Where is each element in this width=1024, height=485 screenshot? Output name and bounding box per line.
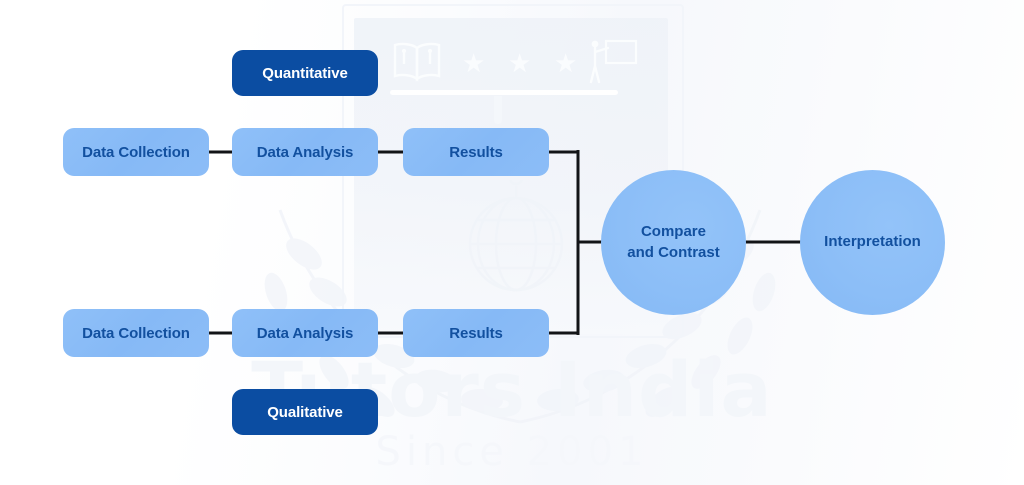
watermark-icon-strip: ★ ★ ★	[390, 36, 640, 90]
node-results-qualitative[interactable]: Results	[403, 309, 549, 357]
node-label: Compare and Contrast	[615, 222, 732, 263]
node-data-collection-qualitative[interactable]: Data Collection	[63, 309, 209, 357]
watermark-divider	[390, 90, 618, 95]
node-compare-and-contrast[interactable]: Compare and Contrast	[601, 170, 746, 315]
open-book-icon	[390, 40, 444, 82]
flowchart-canvas: ★ ★ ★	[0, 0, 1024, 485]
node-label-line-1: Compare	[641, 223, 706, 240]
badge-quantitative-label: Quantitative	[262, 65, 347, 82]
node-label: Data Collection	[82, 144, 190, 161]
node-data-collection-quantitative[interactable]: Data Collection	[63, 128, 209, 176]
node-label: Interpretation	[824, 232, 921, 252]
watermark-ribbon	[494, 96, 502, 124]
brand-tagline-watermark: Since 2001	[0, 432, 1024, 472]
node-results-quantitative[interactable]: Results	[403, 128, 549, 176]
brand-wordmark-watermark: Tutors India	[0, 352, 1024, 428]
node-data-analysis-quantitative[interactable]: Data Analysis	[232, 128, 378, 176]
node-label: Data Analysis	[257, 325, 354, 342]
teacher-whiteboard-icon	[586, 36, 638, 86]
badge-quantitative[interactable]: Quantitative	[232, 50, 378, 96]
node-interpretation[interactable]: Interpretation	[800, 170, 945, 315]
node-label-line-2: and Contrast	[627, 244, 720, 261]
node-data-analysis-qualitative[interactable]: Data Analysis	[232, 309, 378, 357]
badge-qualitative-label: Qualitative	[267, 404, 343, 421]
node-label: Results	[449, 144, 503, 161]
badge-qualitative[interactable]: Qualitative	[232, 389, 378, 435]
node-label: Results	[449, 325, 503, 342]
node-label: Data Analysis	[257, 144, 354, 161]
globe-icon	[452, 180, 580, 308]
node-label: Data Collection	[82, 325, 190, 342]
